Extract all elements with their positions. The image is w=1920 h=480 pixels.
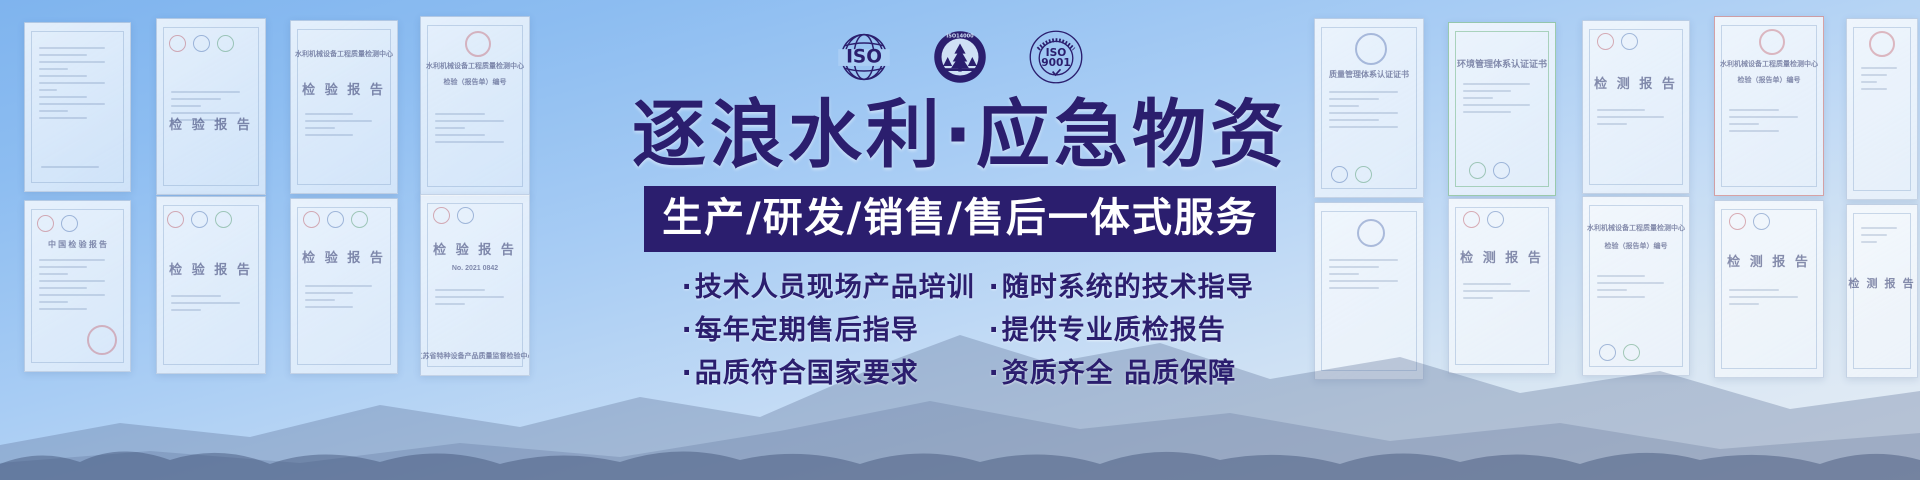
feature-label: 提供专业质检报告	[1002, 315, 1226, 346]
feature-list: ·技术人员现场产品培训 ·随时系统的技术指导 ·每年定期售后指导 ·提供专业质检…	[682, 274, 1239, 387]
feature-item: ·技术人员现场产品培训	[682, 274, 967, 301]
bullet-dot: ·	[682, 358, 693, 389]
bullet-dot: ·	[989, 315, 1000, 346]
iso-9001-badge-icon: ISO 9001	[1028, 29, 1084, 85]
svg-text:ISO: ISO	[846, 47, 882, 68]
certification-badge-row: ISO ISO14000	[836, 28, 1084, 86]
feature-item: ·每年定期售后指导	[682, 317, 967, 344]
feature-label: 技术人员现场产品培训	[695, 272, 975, 303]
bullet-dot: ·	[682, 315, 693, 346]
feature-item: ·随时系统的技术指导	[989, 274, 1239, 301]
feature-item: ·品质符合国家要求	[682, 360, 967, 387]
feature-label: 资质齐全 品质保障	[1002, 358, 1236, 389]
svg-text:9001: 9001	[1041, 56, 1071, 69]
feature-label: 品质符合国家要求	[695, 358, 919, 389]
bullet-dot: ·	[682, 272, 693, 303]
promo-banner: 检 验 报 告 水利机械设备工程质量检测中心 检 验 报 告 水利机械设备工程质…	[0, 0, 1920, 480]
iso-14000-badge-icon: ISO14000	[932, 29, 988, 85]
feature-item: ·提供专业质检报告	[989, 317, 1239, 344]
svg-text:ISO14000: ISO14000	[946, 33, 974, 39]
feature-label: 随时系统的技术指导	[1002, 272, 1254, 303]
banner-content: ISO ISO14000	[0, 0, 1920, 480]
bullet-dot: ·	[989, 358, 1000, 389]
feature-label: 每年定期售后指导	[695, 315, 919, 346]
feature-item: ·资质齐全 品质保障	[989, 360, 1239, 387]
bullet-dot: ·	[989, 272, 1000, 303]
iso-globe-badge-icon: ISO	[836, 29, 892, 85]
banner-headline: 逐浪水利·应急物资	[632, 98, 1288, 172]
banner-subtitle-bar: 生产/研发/销售/售后一体式服务	[644, 186, 1276, 252]
